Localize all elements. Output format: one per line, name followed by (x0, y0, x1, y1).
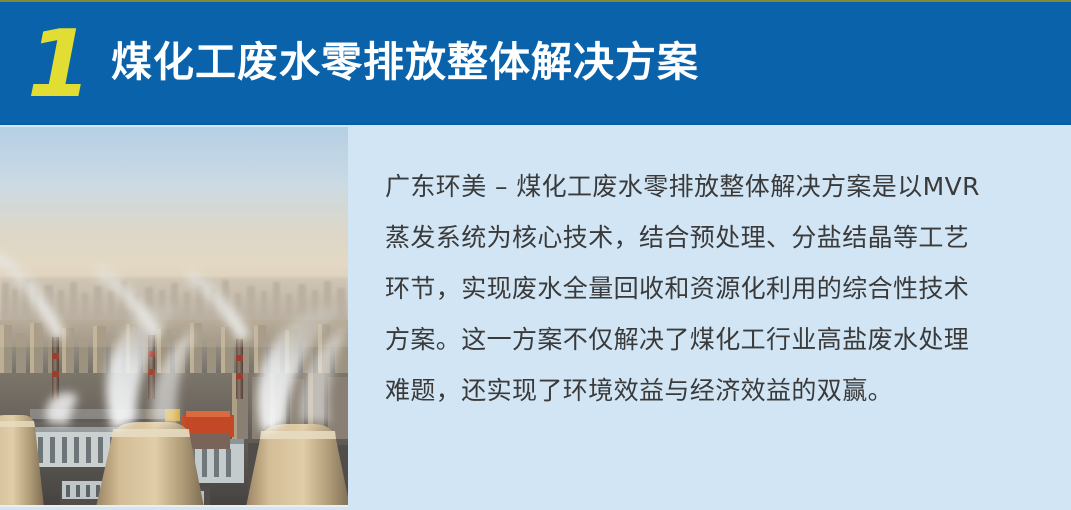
page-title: 煤化工废水零排放整体解决方案 (111, 40, 699, 85)
section-number-badge: 1 (27, 18, 90, 111)
photo-bottom-edge (0, 505, 348, 507)
industrial-photo (0, 127, 348, 507)
header-band: 1 煤化工废水零排放整体解决方案 (0, 2, 1071, 125)
slide-root: 1 煤化工废水零排放整体解决方案 (0, 0, 1071, 510)
industrial-photo-graphic (0, 127, 348, 507)
description-paragraph: 广东环美 – 煤化工废水零排放整体解决方案是以MVR 蒸发系统为核心技术，结合预… (385, 161, 985, 416)
